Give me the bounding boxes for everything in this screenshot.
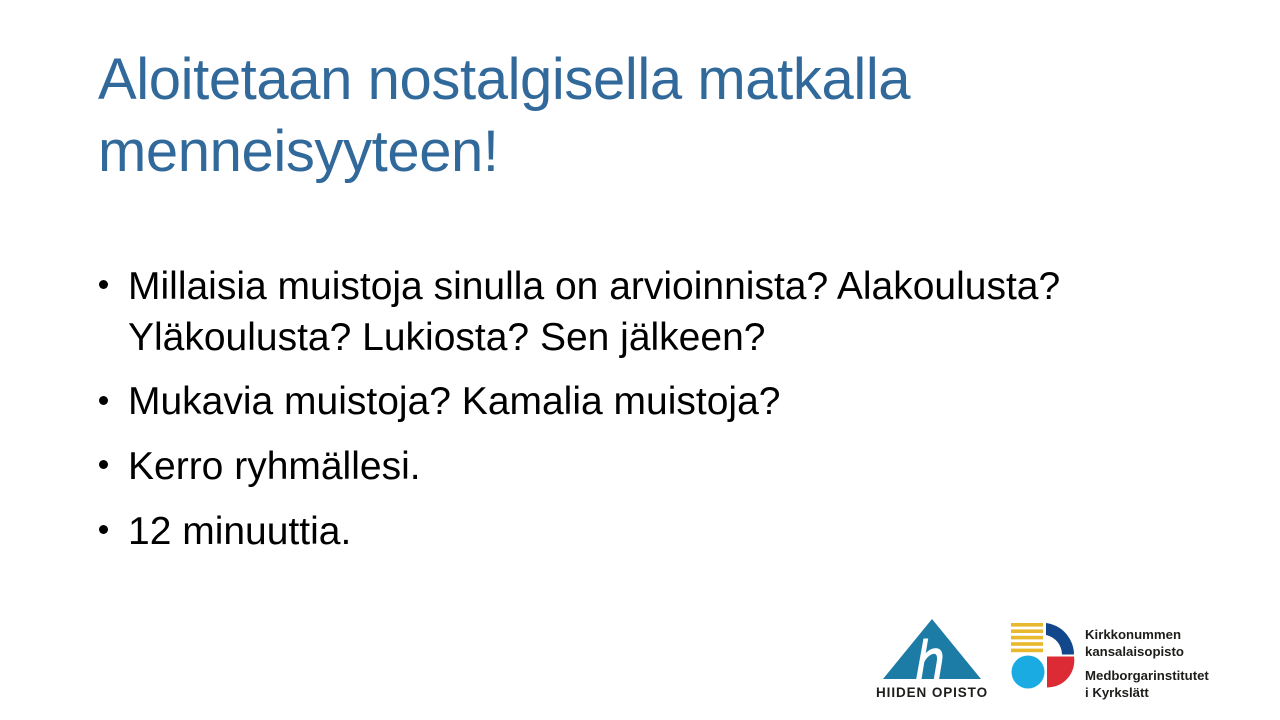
kirkkonummi-wordmark-finnish: Kirkkonummen kansalaisopisto: [1085, 627, 1209, 661]
bullet-point-icon: [99, 280, 108, 289]
kirkkonummi-wordmark: Kirkkonummen kansalaisopisto Medborgarin…: [1085, 621, 1209, 702]
kirkkonummi-swedish-line-1: Medborgarinstitutet: [1085, 668, 1209, 685]
kirkkonummi-finnish-line-2: kansalaisopisto: [1085, 644, 1209, 661]
bullet-list: Millaisia muistoja sinulla on arvioinnis…: [96, 262, 1206, 557]
list-item: Millaisia muistoja sinulla on arvioinnis…: [96, 262, 1206, 363]
kirkkonummi-k-mark-icon: [1010, 621, 1076, 689]
kirkkonummi-swedish-line-2: i Kyrkslätt: [1085, 685, 1209, 702]
list-item: 12 minuuttia.: [96, 507, 1206, 558]
kirkkonummi-finnish-line-1: Kirkkonummen: [1085, 627, 1209, 644]
hiiden-opisto-logo: HIIDEN OPISTO: [876, 618, 988, 700]
kirkkonummi-wordmark-swedish: Medborgarinstitutet i Kyrkslätt: [1085, 668, 1209, 702]
list-item-text: 12 minuuttia.: [128, 507, 1206, 558]
list-item: Mukavia muistoja? Kamalia muistoja?: [96, 377, 1206, 428]
list-item: Kerro ryhmällesi.: [96, 442, 1206, 493]
bullet-point-icon: [99, 396, 108, 405]
bullet-point-icon: [99, 460, 108, 469]
list-item-text: Millaisia muistoja sinulla on arvioinnis…: [128, 262, 1206, 363]
slide-canvas: Aloitetaan nostalgisella matkalla mennei…: [0, 0, 1280, 720]
hiiden-opisto-wordmark: HIIDEN OPISTO: [876, 685, 988, 700]
hiiden-opisto-mountain-icon: [882, 618, 982, 680]
bullet-point-icon: [99, 525, 108, 534]
list-item-text: Kerro ryhmällesi.: [128, 442, 1206, 493]
list-item-text: Mukavia muistoja? Kamalia muistoja?: [128, 377, 1206, 428]
logo-strip: HIIDEN OPISTO: [876, 618, 1228, 710]
page-title: Aloitetaan nostalgisella matkalla mennei…: [98, 44, 1098, 188]
kirkkonummen-kansalaisopisto-logo: Kirkkonummen kansalaisopisto Medborgarin…: [1010, 618, 1209, 702]
